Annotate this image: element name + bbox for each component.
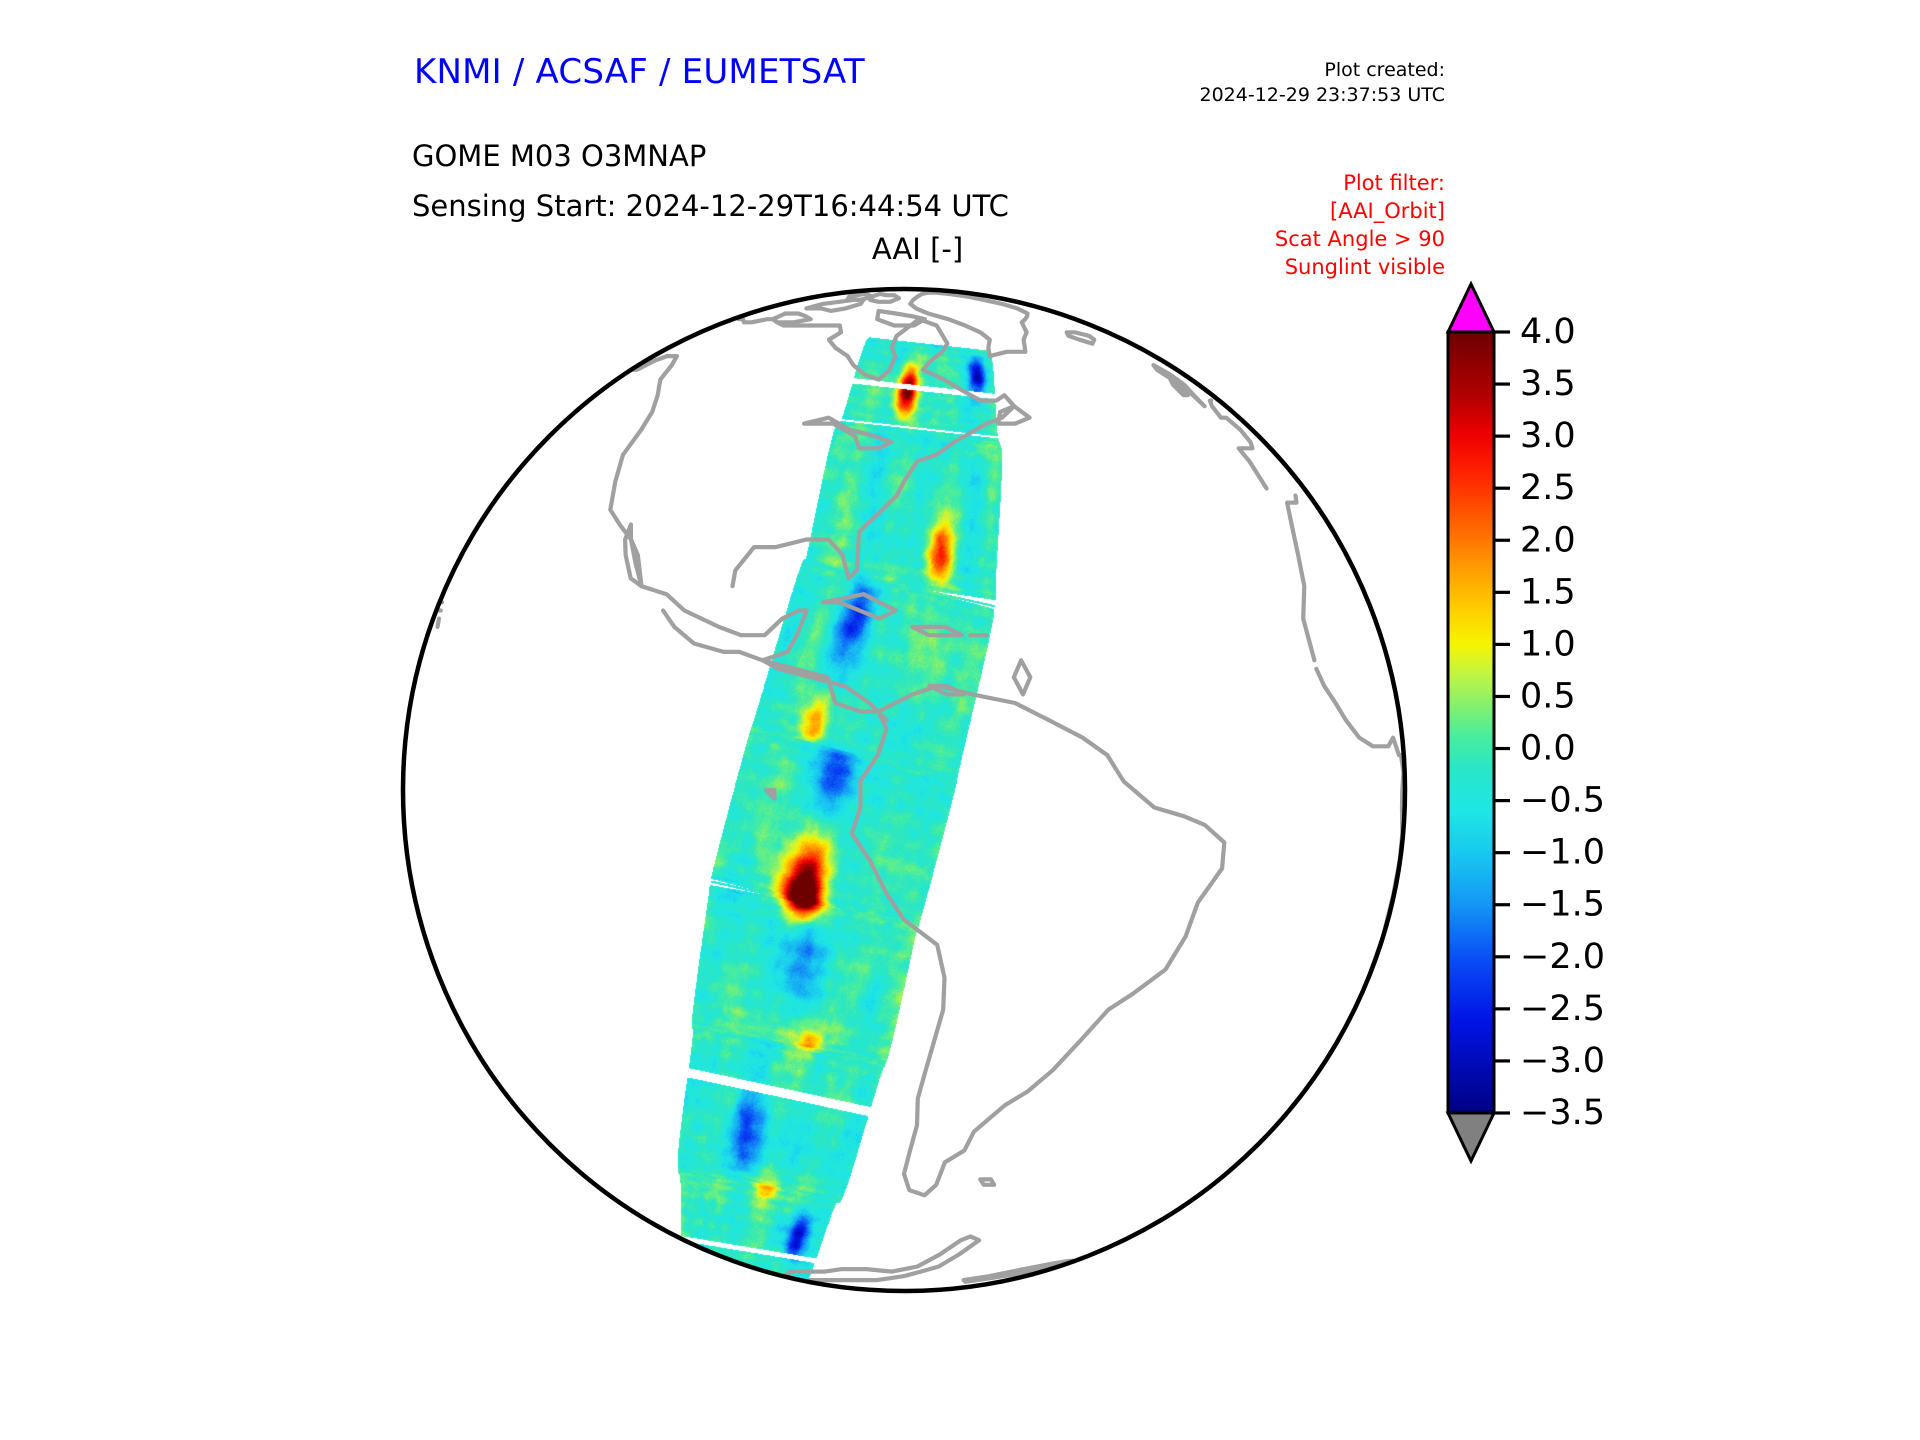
colorbar-tick-label: 0.0 <box>1520 729 1576 769</box>
coastline-layer <box>398 284 1410 1296</box>
plot-page: KNMI / ACSAF / EUMETSAT GOME M03 O3MNAP … <box>0 0 1920 1440</box>
colorbar-tick-label: 4.0 <box>1520 312 1576 352</box>
colorbar: 4.03.53.02.52.01.51.00.50.0−0.5−1.0−1.5−… <box>1430 280 1690 1310</box>
plot-filter-block: Plot filter: [AAI_Orbit] Scat Angle > 90… <box>1275 170 1445 282</box>
plot-created-label: Plot created: <box>1200 58 1446 83</box>
colorbar-tick-label: −1.0 <box>1520 833 1605 873</box>
plot-filter-label: Plot filter: <box>1275 170 1445 198</box>
plot-created-block: Plot created: 2024-12-29 23:37:53 UTC <box>1200 58 1446 108</box>
colorbar-svg: 4.03.53.02.52.01.51.00.50.0−0.5−1.0−1.5−… <box>1430 280 1690 1310</box>
plot-filter-sunglint: Sunglint visible <box>1275 254 1445 282</box>
plot-filter-scat-angle: Scat Angle > 90 <box>1275 226 1445 254</box>
plot-created-timestamp: 2024-12-29 23:37:53 UTC <box>1200 83 1446 108</box>
product-title: GOME M03 O3MNAP <box>412 139 706 173</box>
colorbar-tick-label: 1.5 <box>1520 572 1576 612</box>
colorbar-tick-label: 3.0 <box>1520 416 1576 456</box>
colorbar-tick-label: −1.5 <box>1520 885 1605 925</box>
colorbar-tick-label: −3.5 <box>1520 1093 1605 1133</box>
colorbar-tick-label: −0.5 <box>1520 781 1605 821</box>
colorbar-tick-label: −3.0 <box>1520 1041 1605 1081</box>
agency-title: KNMI / ACSAF / EUMETSAT <box>414 52 865 92</box>
colorbar-tick-label: 0.5 <box>1520 676 1576 716</box>
colorbar-tick-label: 2.5 <box>1520 468 1576 508</box>
plot-filter-name: [AAI_Orbit] <box>1275 198 1445 226</box>
colorbar-tick-label: 2.0 <box>1520 520 1576 560</box>
colorbar-tick-label: −2.0 <box>1520 937 1605 977</box>
quantity-title: AAI [-] <box>0 232 1835 266</box>
colorbar-tick-label: 3.5 <box>1520 364 1576 404</box>
orthographic-globe-map <box>398 284 1410 1296</box>
sensing-start-label: Sensing Start: 2024-12-29T16:44:54 UTC <box>412 189 1009 223</box>
colorbar-tick-label: 1.0 <box>1520 624 1576 664</box>
colorbar-tick-label: −2.5 <box>1520 989 1605 1029</box>
